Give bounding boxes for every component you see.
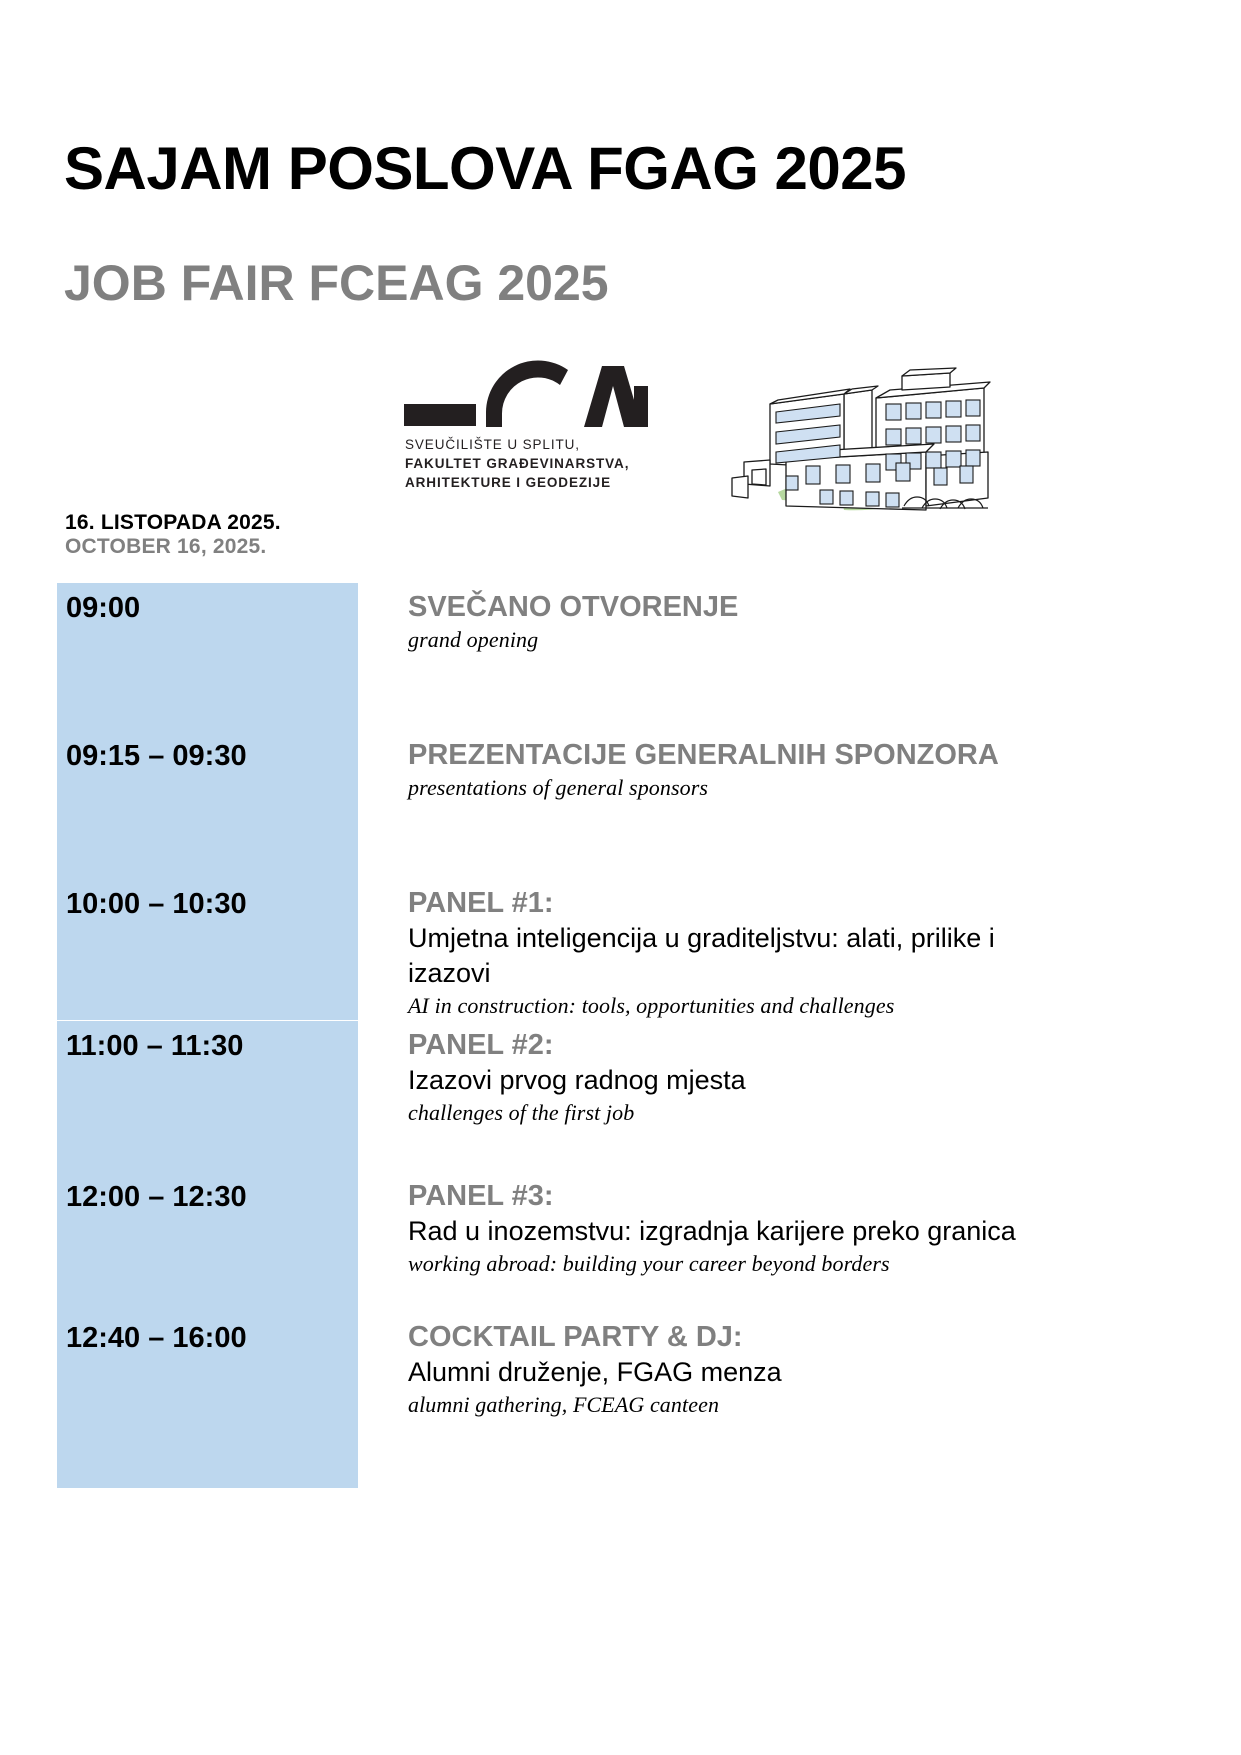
table-row: 10:00 – 10:30 PANEL #1: Umjetna intelige…	[57, 879, 1067, 1021]
schedule-heading: PANEL #1:	[408, 885, 1053, 921]
schedule-time: 12:40 – 16:00	[57, 1313, 360, 1488]
schedule-time: 11:00 – 11:30	[57, 1021, 360, 1172]
schedule-heading-english: AI in construction: tools, opportunities…	[408, 991, 1053, 1021]
schedule-heading-english: challenges of the first job	[408, 1098, 1053, 1128]
schedule-description: PANEL #3: Rad u inozemstvu: izgradnja ka…	[360, 1172, 1067, 1313]
table-row: 11:00 – 11:30 PANEL #2: Izazovi prvog ra…	[57, 1021, 1067, 1172]
table-row: 12:40 – 16:00 COCKTAIL PARTY & DJ: Alumn…	[57, 1313, 1067, 1488]
schedule-description: PANEL #2: Izazovi prvog radnog mjesta ch…	[360, 1021, 1067, 1172]
schedule-time: 09:15 – 09:30	[57, 731, 360, 879]
schedule-heading-english: working abroad: building your career bey…	[408, 1249, 1053, 1279]
schedule-heading: COCKTAIL PARTY & DJ:	[408, 1319, 1053, 1355]
university-logo-text: SVEUČILIŠTE U SPLITU, FAKULTET GRAĐEVINA…	[405, 436, 655, 492]
poster-page: SAJAM POSLOVA FGAG 2025 JOB FAIR FCEAG 2…	[0, 0, 1241, 1755]
event-date-english: OCTOBER 16, 2025.	[65, 535, 465, 559]
schedule-description: SVEČANO OTVORENJE grand opening	[360, 583, 1067, 731]
schedule-subtitle: Umjetna inteligencija u graditeljstvu: a…	[408, 921, 1053, 991]
schedule-description: COCKTAIL PARTY & DJ: Alumni druženje, FG…	[360, 1313, 1067, 1454]
schedule-description: PREZENTACIJE GENERALNIH SPONZORA present…	[360, 731, 1067, 879]
page-title-croatian: SAJAM POSLOVA FGAG 2025	[64, 134, 906, 203]
table-row: 09:00 SVEČANO OTVORENJE grand opening	[57, 583, 1067, 731]
table-row: 09:15 – 09:30 PREZENTACIJE GENERALNIH SP…	[57, 731, 1067, 879]
schedule-heading: PANEL #3:	[408, 1178, 1053, 1214]
schedule-heading-english: presentations of general sponsors	[408, 773, 1053, 803]
table-row: 12:00 – 12:30 PANEL #3: Rad u inozemstvu…	[57, 1172, 1067, 1313]
schedule-heading: SVEČANO OTVORENJE	[408, 589, 1053, 625]
logo-text-line-3: ARHITEKTURE I GEODEZIJE	[405, 473, 655, 492]
schedule-time: 12:00 – 12:30	[57, 1172, 360, 1313]
schedule-subtitle: Alumni druženje, FGAG menza	[408, 1355, 1053, 1390]
schedule-heading-english: alumni gathering, FCEAG canteen	[408, 1390, 1053, 1420]
event-date-croatian: 16. LISTOPADA 2025.	[65, 511, 465, 535]
schedule-description: PANEL #1: Umjetna inteligencija u gradit…	[360, 879, 1067, 1021]
schedule-heading: PREZENTACIJE GENERALNIH SPONZORA	[408, 737, 1053, 773]
schedule-heading-english: grand opening	[408, 625, 1053, 655]
page-title-english: JOB FAIR FCEAG 2025	[64, 254, 609, 312]
event-date: 16. LISTOPADA 2025. OCTOBER 16, 2025.	[65, 511, 465, 559]
logo-text-line-2: FAKULTET GRAĐEVINARSTVA,	[405, 454, 655, 473]
schedule-subtitle: Izazovi prvog radnog mjesta	[408, 1063, 1053, 1098]
schedule-table: 09:00 SVEČANO OTVORENJE grand opening 09…	[57, 583, 1067, 1488]
fgag-logo-mark-icon	[398, 352, 648, 427]
schedule-time: 10:00 – 10:30	[57, 879, 360, 1020]
fgag-building-illustration-icon	[726, 356, 1002, 516]
schedule-time: 09:00	[57, 583, 360, 731]
schedule-heading: PANEL #2:	[408, 1027, 1053, 1063]
university-logo: SVEUČILIŠTE U SPLITU, FAKULTET GRAĐEVINA…	[398, 352, 663, 502]
schedule-subtitle: Rad u inozemstvu: izgradnja karijere pre…	[408, 1214, 1053, 1249]
logo-text-line-1: SVEUČILIŠTE U SPLITU,	[405, 436, 655, 454]
